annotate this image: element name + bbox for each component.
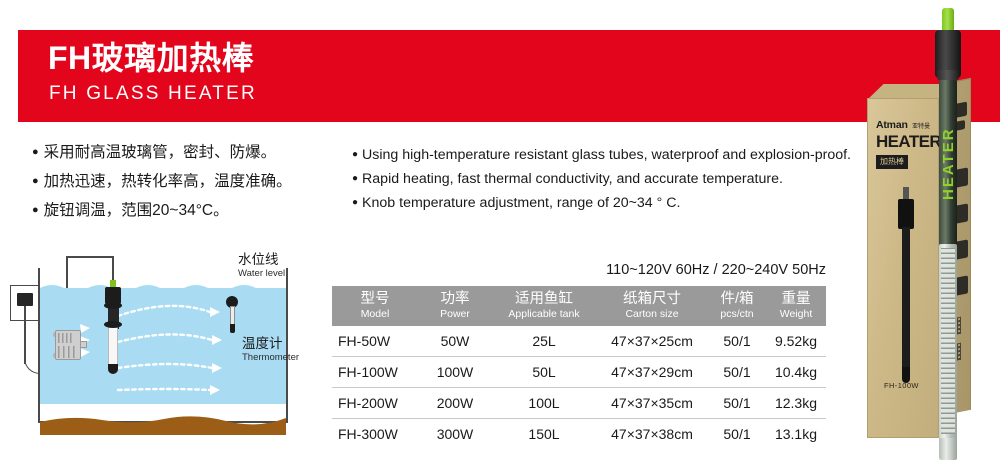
voltage-note: 110~120V 60Hz / 220~240V 50Hz — [606, 262, 826, 278]
column-header-model: 型号 Model — [332, 286, 418, 326]
substrate-icon — [40, 413, 286, 435]
cell-pcs: 50/1 — [708, 388, 766, 419]
carton-brand-line: Atman 亚特曼 — [876, 115, 934, 133]
feature-text: 加热迅速，热转化率高，温度准确。 — [44, 169, 352, 194]
column-header-en: Carton size — [596, 308, 708, 321]
feature-item: ● Using high-temperature resistant glass… — [352, 144, 862, 166]
table-row: FH-50W 50W 25L 47×37×25cm 50/1 9.52kg — [332, 326, 826, 357]
column-header-cn: 件/箱 — [708, 290, 766, 308]
carton-branding: Atman 亚特曼 HEATER 加热棒 — [876, 115, 934, 169]
feature-text: Using high-temperature resistant glass t… — [362, 144, 862, 166]
water-level-label: 水位线 Water level — [238, 252, 285, 280]
feature-item: ● 采用耐高温玻璃管，密封、防爆。 — [32, 140, 352, 165]
column-header-carton: 纸箱尺寸 Carton size — [596, 286, 708, 326]
column-header-en: Power — [418, 308, 492, 321]
heater-in-tank-icon — [104, 280, 122, 380]
cell-tank: 150L — [492, 419, 596, 450]
specification-table: 型号 Model 功率 Power 适用鱼缸 Applicable tank 纸… — [332, 286, 826, 449]
cell-model: FH-100W — [332, 357, 418, 388]
cell-model: FH-300W — [332, 419, 418, 450]
table-row: FH-300W 300W 150L 47×37×38cm 50/1 13.1kg — [332, 419, 826, 450]
table-header-row: 型号 Model 功率 Power 适用鱼缸 Applicable tank 纸… — [332, 286, 826, 326]
table-row: FH-200W 200W 100L 47×37×35cm 50/1 12.3kg — [332, 388, 826, 419]
carton-front-face: Atman 亚特曼 HEATER 加热棒 FH-100W — [867, 98, 939, 438]
cell-model: FH-200W — [332, 388, 418, 419]
heater-end-cap — [108, 364, 118, 374]
column-header-cn: 功率 — [418, 290, 492, 308]
cell-tank: 100L — [492, 388, 596, 419]
thermometer-label-en: Thermometer — [242, 352, 299, 364]
filter-nozzle — [80, 341, 87, 348]
heater-suction-cup — [104, 302, 122, 309]
product-spec-sheet: FH玻璃加热棒 FH GLASS HEATER ● 采用耐高温玻璃管，密封、防爆… — [0, 0, 1000, 468]
filter-grill — [58, 333, 73, 343]
column-header-power: 功率 Power — [418, 286, 492, 326]
column-header-en: pcs/ctn — [708, 308, 766, 321]
bullet-icon: ● — [352, 192, 358, 214]
column-header-pcs: 件/箱 pcs/ctn — [708, 286, 766, 326]
column-header-cn: 适用鱼缸 — [492, 290, 596, 308]
bullet-icon: ● — [32, 198, 39, 223]
rod-bottom-cap — [939, 438, 957, 460]
feature-list-chinese: ● 采用耐高温玻璃管，密封、防爆。 ● 加热迅速，热转化率高，温度准确。 ● 旋… — [32, 140, 352, 227]
cell-weight: 9.52kg — [766, 326, 826, 357]
filter-grill — [58, 346, 76, 358]
water-level-label-en: Water level — [238, 268, 285, 280]
cell-pcs: 50/1 — [708, 357, 766, 388]
feature-item: ● Knob temperature adjustment, range of … — [352, 192, 862, 214]
cell-tank: 25L — [492, 326, 596, 357]
thermometer-icon — [225, 296, 239, 334]
column-header-en: Applicable tank — [492, 308, 596, 321]
bullet-icon: ● — [352, 168, 358, 190]
cell-pcs: 50/1 — [708, 326, 766, 357]
cell-power: 50W — [418, 326, 492, 357]
cell-power: 100W — [418, 357, 492, 388]
page-title-cn: FH玻璃加热棒 — [48, 38, 254, 78]
column-header-en: Weight — [766, 308, 826, 321]
cell-power: 200W — [418, 388, 492, 419]
feature-text: 采用耐高温玻璃管，密封、防爆。 — [44, 140, 352, 165]
column-header-cn: 重量 — [766, 290, 826, 308]
cell-weight: 12.3kg — [766, 388, 826, 419]
feature-list-english: ● Using high-temperature resistant glass… — [352, 144, 862, 216]
feature-text: 旋钮调温，范围20~34°C。 — [44, 198, 352, 223]
feature-text: Rapid heating, fast thermal conductivity… — [362, 168, 862, 190]
page-title-en: FH GLASS HEATER — [49, 82, 257, 106]
carton-product-name-cn: 加热棒 — [876, 155, 908, 169]
rod-heating-coil — [941, 248, 955, 434]
aquarium-diagram: 水位线 Water level 温度计 Thermometer — [10, 252, 330, 452]
heater-suction-cup — [104, 321, 122, 328]
carton-model-label: FH-100W — [884, 381, 919, 390]
column-header-cn: 纸箱尺寸 — [596, 290, 708, 308]
bullet-icon: ● — [352, 144, 358, 166]
cell-carton: 47×37×25cm — [596, 326, 708, 357]
thermometer-label: 温度计 Thermometer — [242, 336, 299, 364]
cell-tank: 50L — [492, 357, 596, 388]
feature-text: Knob temperature adjustment, range of 20… — [362, 192, 862, 214]
cell-weight: 13.1kg — [766, 419, 826, 450]
power-cord-top — [66, 256, 114, 258]
cell-weight: 10.4kg — [766, 357, 826, 388]
cell-carton: 47×37×29cm — [596, 357, 708, 388]
cell-model: FH-50W — [332, 326, 418, 357]
thermometer-tip — [230, 324, 235, 333]
feature-item: ● 旋钮调温，范围20~34°C。 — [32, 198, 352, 223]
bullet-icon: ● — [32, 169, 39, 194]
column-header-cn: 型号 — [332, 290, 418, 308]
rod-brand-text: HEATER — [940, 104, 956, 224]
brand-name: Atman — [876, 119, 908, 131]
feature-item: ● Rapid heating, fast thermal conductivi… — [352, 168, 862, 190]
thermometer-stem — [230, 306, 235, 326]
carton-product-name: HEATER — [876, 133, 934, 151]
column-header-tank: 适用鱼缸 Applicable tank — [492, 286, 596, 326]
thermometer-label-cn: 温度计 — [242, 336, 299, 352]
cell-carton: 47×37×38cm — [596, 419, 708, 450]
table-row: FH-100W 100W 50L 47×37×29cm 50/1 10.4kg — [332, 357, 826, 388]
water-level-label-cn: 水位线 — [238, 252, 285, 268]
carton-rod-body — [902, 227, 910, 372]
brand-name-cn: 亚特曼 — [912, 124, 930, 130]
feature-item: ● 加热迅速，热转化率高，温度准确。 — [32, 169, 352, 194]
cell-carton: 47×37×35cm — [596, 388, 708, 419]
product-photo: CE Atman 亚特曼 HEATER 加热棒 FH-100W — [855, 0, 1000, 468]
column-header-weight: 重量 Weight — [766, 286, 826, 326]
column-header-en: Model — [332, 308, 418, 321]
cell-pcs: 50/1 — [708, 419, 766, 450]
power-plug-icon — [17, 293, 33, 306]
cell-power: 300W — [418, 419, 492, 450]
carton-rod-cap — [898, 199, 914, 229]
heater-product-rod: HEATER — [931, 8, 965, 460]
carton-heater-illustration — [898, 187, 914, 387]
title-banner: FH玻璃加热棒 FH GLASS HEATER — [18, 30, 1000, 122]
bullet-icon: ● — [32, 140, 39, 165]
filter-pump-icon — [53, 330, 85, 360]
